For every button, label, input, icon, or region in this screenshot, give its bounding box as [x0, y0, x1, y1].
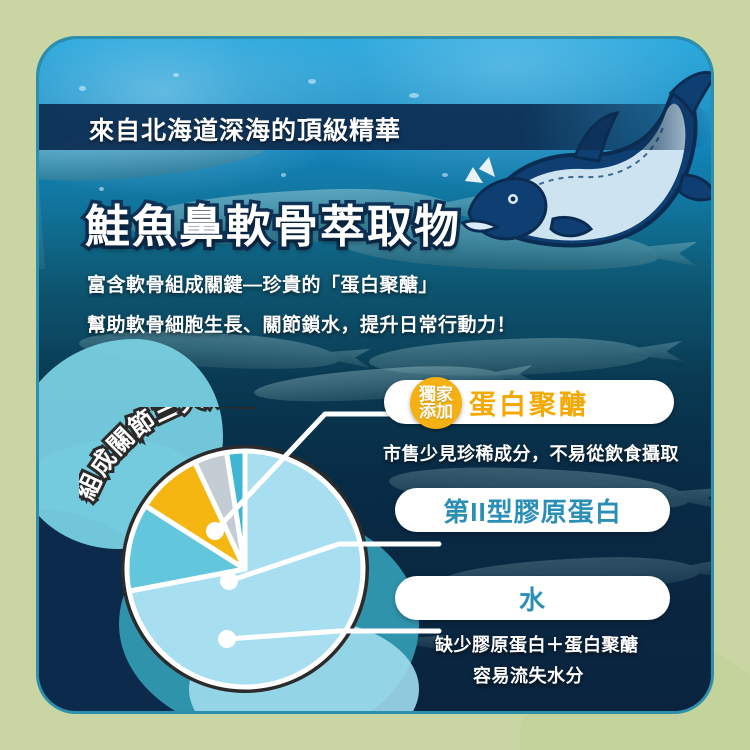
pill-label: 蛋白聚醣 — [469, 383, 589, 422]
subtitle-line-2: 幫助軟骨細胞生長、關節鎖水，提升日常行動力！ — [87, 310, 516, 337]
page-background: 來自北海道深海的頂級精華 鮭魚鼻軟骨萃取物 富含軟骨組成關鍵—珍貴的「蛋白聚醣」… — [0, 0, 750, 750]
salmon-illustration — [457, 57, 714, 272]
caption-water-line-1: 缺少膠原蛋白＋蛋白聚醣 — [435, 631, 639, 657]
ingredient-pie-chart — [119, 429, 389, 699]
subtitle-line-1: 富含軟骨組成關鍵—珍貴的「蛋白聚醣」 — [87, 270, 438, 297]
promo-card: 來自北海道深海的頂級精華 鮭魚鼻軟骨萃取物 富含軟骨組成關鍵—珍貴的「蛋白聚醣」… — [36, 36, 714, 714]
label-pill-water[interactable]: 水 — [395, 576, 670, 620]
caption-proteoglycan: 市售少見珍稀成分，不易從飲食攝取 — [383, 440, 679, 466]
page-title: 鮭魚鼻軟骨萃取物 — [85, 190, 461, 255]
label-pill-collagen-ii[interactable]: 第II型膠原蛋白 — [395, 488, 670, 532]
pie-slices — [127, 451, 363, 687]
badge-line-2: 添加 — [419, 403, 453, 420]
pill-label: 第II型膠原蛋白 — [443, 492, 621, 529]
pill-label: 水 — [519, 580, 546, 617]
eyebrow-text: 來自北海道深海的頂級精華 — [89, 111, 401, 147]
caption-water-line-2: 容易流失水分 — [473, 662, 584, 688]
exclusive-badge: 獨家 添加 — [410, 377, 462, 429]
badge-line-1: 獨家 — [419, 386, 453, 403]
